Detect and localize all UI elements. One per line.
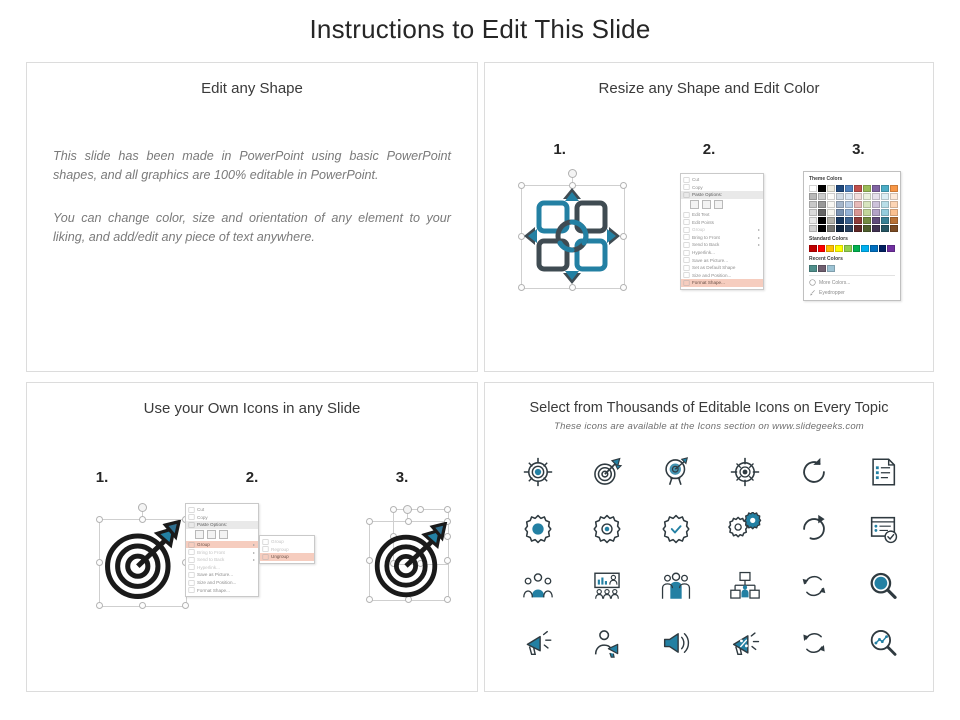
color-swatch[interactable]: [836, 193, 844, 200]
color-swatch[interactable]: [863, 185, 871, 192]
bring-front-icon: [188, 549, 195, 555]
gear-check-icon: [659, 512, 693, 546]
chevron-right-icon: ▸: [758, 235, 760, 240]
panel-title-edit-shape: Edit any Shape: [27, 80, 477, 97]
color-swatch[interactable]: [861, 245, 869, 252]
color-swatch[interactable]: [872, 209, 880, 216]
menu-item-hyperlink[interactable]: Hyperlink...: [681, 249, 763, 257]
paste-merge-icon: [207, 530, 216, 539]
color-swatch[interactable]: [826, 245, 834, 252]
panel-title-own-icons: Use your Own Icons in any Slide: [27, 400, 477, 417]
color-swatch[interactable]: [836, 225, 844, 232]
icon-cell[interactable]: [848, 443, 917, 500]
recycle-arrows-icon: [797, 626, 831, 660]
size-position-icon: [683, 272, 690, 278]
color-swatch[interactable]: [809, 193, 817, 200]
color-swatch[interactable]: [854, 209, 862, 216]
step-number-1: 1.: [27, 469, 177, 486]
color-swatch[interactable]: [845, 225, 853, 232]
color-swatch[interactable]: [836, 185, 844, 192]
menu-item-set-as-default-shape[interactable]: Set as Default Shape: [681, 264, 763, 272]
color-swatch[interactable]: [890, 185, 898, 192]
icon-cell[interactable]: [572, 557, 641, 614]
color-swatch[interactable]: [872, 225, 880, 232]
menu-item-edit-text[interactable]: Edit Text: [681, 211, 763, 219]
bring-front-icon: [683, 234, 690, 240]
menu-item-label: Format Shape...: [197, 588, 255, 593]
color-swatch[interactable]: [818, 265, 826, 272]
color-swatch[interactable]: [887, 245, 895, 252]
person-megaphone-icon: [590, 626, 624, 660]
menu-item-copy[interactable]: Copy: [681, 184, 763, 192]
color-swatch[interactable]: [881, 217, 889, 224]
color-swatch[interactable]: [890, 217, 898, 224]
chevron-right-icon: ▸: [758, 242, 760, 247]
menu-item-label: Send to Back: [692, 242, 758, 247]
edit-shape-paragraph-2: You can change color, size and orientati…: [53, 209, 451, 247]
recent-colors-heading: Recent Colors: [809, 256, 895, 262]
menu-item-copy[interactable]: Copy: [186, 514, 258, 522]
theme-color-column[interactable]: [809, 185, 817, 232]
theme-color-column[interactable]: [854, 185, 862, 232]
color-swatch[interactable]: [863, 201, 871, 208]
color-picker-wrapper[interactable]: Theme Colors Standard Colors Recent Colo…: [803, 171, 901, 301]
color-swatch[interactable]: [872, 185, 880, 192]
color-swatch[interactable]: [863, 217, 871, 224]
menu-item-label: Bring to Front: [692, 235, 758, 240]
menu-item-label: Cut: [197, 507, 255, 512]
rotate-handle[interactable]: [568, 169, 577, 178]
menu-item-label: Save as Picture...: [692, 258, 760, 263]
menu-item-paste-options[interactable]: Paste Options:: [186, 521, 258, 529]
menu-item-label: Group: [271, 539, 311, 544]
chevron-right-icon: ▸: [253, 557, 255, 562]
color-swatch[interactable]: [818, 225, 826, 232]
menu-item-edit-points[interactable]: Edit Points: [681, 218, 763, 226]
dartboard-stand-icon: [659, 455, 693, 489]
paste-icon: [683, 192, 690, 198]
color-swatch[interactable]: [827, 193, 835, 200]
color-swatch[interactable]: [827, 265, 835, 272]
menu-item-label: Hyperlink...: [197, 565, 255, 570]
regroup-icon: [262, 546, 269, 552]
format-shape-icon: [683, 280, 690, 286]
rotate-handle[interactable]: [138, 503, 147, 512]
color-wheel-icon: [809, 279, 816, 286]
menu-item-format-shape[interactable]: Format Shape...: [681, 279, 763, 287]
format-shape-icon: [188, 587, 195, 593]
color-swatch[interactable]: [872, 193, 880, 200]
standard-colors-heading: Standard Colors: [809, 236, 895, 242]
color-swatch[interactable]: [809, 201, 817, 208]
circular-arrow-icon: [797, 512, 831, 546]
icon-cell[interactable]: [848, 614, 917, 671]
icon-cell[interactable]: [710, 557, 779, 614]
theme-color-column[interactable]: [827, 185, 835, 232]
team-three-icon: [659, 569, 693, 603]
panel-title-editable-icons: Select from Thousands of Editable Icons …: [485, 400, 933, 416]
edit-points-icon: [683, 219, 690, 225]
color-swatch[interactable]: [881, 193, 889, 200]
gear-filled-icon: [521, 512, 555, 546]
icon-cell[interactable]: [779, 614, 848, 671]
crosshair-dot-icon: [728, 455, 762, 489]
menu-item-label: Edit Text: [692, 212, 760, 217]
paste-icon: [188, 522, 195, 528]
color-swatch[interactable]: [827, 209, 835, 216]
color-swatch[interactable]: [818, 201, 826, 208]
color-swatch[interactable]: [863, 193, 871, 200]
paste-keep-formatting-icon: [195, 530, 204, 539]
quadrant-shape-selection[interactable]: [507, 173, 637, 313]
page-title: Instructions to Edit This Slide: [0, 14, 960, 45]
theme-color-column[interactable]: [890, 185, 898, 232]
menu-item-format-shape[interactable]: Format Shape...: [186, 586, 258, 594]
menu-item-size-and-position[interactable]: Size and Position...: [681, 272, 763, 280]
size-position-icon: [188, 580, 195, 586]
default-shape-icon: [683, 265, 690, 271]
color-swatch[interactable]: [827, 201, 835, 208]
theme-colors-grid[interactable]: [809, 185, 895, 232]
color-swatch[interactable]: [870, 245, 878, 252]
step-number-2: 2.: [634, 141, 783, 158]
color-swatch[interactable]: [890, 209, 898, 216]
color-swatch[interactable]: [827, 185, 835, 192]
refresh-clockwise-icon: [797, 455, 831, 489]
menu-item-label: Send to Back: [197, 557, 253, 562]
checklist-approved-icon: [866, 512, 900, 546]
group-context-menu[interactable]: CutCopyPaste Options:Group▸Bring to Fron…: [185, 503, 259, 597]
paste-option-icons[interactable]: [186, 529, 258, 541]
gear-outline-icon: [590, 512, 624, 546]
speaker-megaphone-icon: [659, 626, 693, 660]
theme-color-column[interactable]: [818, 185, 826, 232]
menu-item-regroup[interactable]: Regroup: [260, 546, 314, 554]
hyperlink-icon: [683, 250, 690, 256]
color-swatch[interactable]: [872, 217, 880, 224]
icon-cell[interactable]: [572, 443, 641, 500]
menu-item-label: Paste Options:: [197, 522, 255, 527]
menu-item-label: Ungroup: [271, 554, 311, 559]
color-swatch[interactable]: [881, 201, 889, 208]
magnifier-chart-icon: [866, 626, 900, 660]
more-colors-label: More Colors...: [819, 280, 850, 286]
menu-item-ungroup[interactable]: Ungroup: [260, 553, 314, 561]
step-number-1: 1.: [485, 141, 634, 158]
icon-cell[interactable]: [503, 443, 572, 500]
color-swatch[interactable]: [863, 225, 871, 232]
recent-colors-row[interactable]: [809, 265, 895, 272]
slide-canvas: Instructions to Edit This Slide Edit any…: [0, 0, 960, 720]
step-number-3: 3.: [327, 469, 477, 486]
menu-item-save-as-picture[interactable]: Save as Picture...: [681, 256, 763, 264]
send-back-icon: [683, 242, 690, 248]
icon-cell[interactable]: [710, 500, 779, 557]
eyedropper-label: Eyedropper: [819, 290, 845, 296]
color-swatch[interactable]: [836, 217, 844, 224]
paste-picture-icon: [714, 200, 723, 209]
color-swatch[interactable]: [827, 225, 835, 232]
menu-item-label: Save as Picture...: [197, 572, 255, 577]
target-arrow-icon: [100, 520, 184, 604]
color-swatch[interactable]: [872, 201, 880, 208]
color-swatch[interactable]: [818, 217, 826, 224]
color-swatch[interactable]: [818, 193, 826, 200]
standard-colors-row[interactable]: [809, 245, 895, 252]
panel-resize-shape: Resize any Shape and Edit Color 1. 2. 3.: [484, 62, 934, 372]
theme-color-column[interactable]: [845, 185, 853, 232]
scissors-icon: [188, 507, 195, 513]
menu-item-paste-options[interactable]: Paste Options:: [681, 191, 763, 199]
copy-icon: [188, 514, 195, 520]
shape-context-menu[interactable]: CutCopyPaste Options:Edit TextEdit Point…: [680, 173, 764, 290]
group-context-menu-wrapper[interactable]: CutCopyPaste Options:Group▸Bring to Fron…: [185, 503, 259, 597]
color-swatch[interactable]: [836, 201, 844, 208]
icon-cell[interactable]: [641, 443, 710, 500]
editable-icons-subtitle: These icons are available at the Icons s…: [485, 421, 933, 432]
menu-item-send-to-back[interactable]: Send to Back▸: [186, 556, 258, 564]
color-swatch[interactable]: [809, 225, 817, 232]
color-swatch[interactable]: [879, 245, 887, 252]
color-swatch[interactable]: [854, 193, 862, 200]
icon-cell[interactable]: [779, 443, 848, 500]
menu-item-label: Size and Position...: [692, 273, 760, 278]
step-number-3: 3.: [784, 141, 933, 158]
panel-edit-any-shape: Edit any Shape This slide has been made …: [26, 62, 478, 372]
target-icon-ungrouped-selection[interactable]: [349, 501, 469, 623]
menu-item-cut[interactable]: Cut: [186, 506, 258, 514]
color-swatch[interactable]: [845, 193, 853, 200]
icon-cell[interactable]: [779, 557, 848, 614]
menu-item-cut[interactable]: Cut: [681, 176, 763, 184]
menu-item-label: Regroup: [271, 547, 311, 552]
eyedropper-icon: [809, 289, 816, 296]
color-swatch[interactable]: [854, 217, 862, 224]
icon-cell[interactable]: [779, 500, 848, 557]
menu-item-label: Format Shape...: [692, 280, 760, 285]
menu-item-hyperlink[interactable]: Hyperlink...: [186, 564, 258, 572]
color-swatch[interactable]: [835, 245, 843, 252]
theme-color-column[interactable]: [881, 185, 889, 232]
save-picture-icon: [683, 257, 690, 263]
icon-cell[interactable]: [503, 557, 572, 614]
color-swatch[interactable]: [809, 185, 817, 192]
icon-cell[interactable]: [641, 500, 710, 557]
menu-item-group[interactable]: Group: [260, 538, 314, 546]
icon-library-grid: [503, 443, 917, 671]
paste-picture-icon: [219, 530, 228, 539]
color-swatch[interactable]: [818, 209, 826, 216]
people-group-icon: [521, 569, 555, 603]
color-swatch[interactable]: [818, 245, 826, 252]
menu-item-label: Size and Position...: [197, 580, 255, 585]
edit-shape-paragraph-1: This slide has been made in PowerPoint u…: [53, 147, 451, 185]
theme-color-column[interactable]: [863, 185, 871, 232]
menu-item-bring-to-front[interactable]: Bring to Front▸: [681, 234, 763, 242]
color-swatch[interactable]: [827, 217, 835, 224]
color-swatch[interactable]: [881, 225, 889, 232]
more-colors-option[interactable]: More Colors...: [809, 279, 895, 286]
menu-item-group[interactable]: Group▸: [186, 541, 258, 549]
target-icon-selection[interactable]: [71, 503, 191, 623]
paste-keep-formatting-icon: [690, 200, 699, 209]
icon-cell[interactable]: [848, 500, 917, 557]
color-swatch[interactable]: [809, 245, 817, 252]
menu-item-label: Set as Default Shape: [692, 265, 760, 270]
resize-step-numbers: 1. 2. 3.: [485, 141, 933, 158]
color-swatch[interactable]: [836, 209, 844, 216]
sync-arrows-icon: [797, 569, 831, 603]
color-swatch[interactable]: [845, 217, 853, 224]
chevron-right-icon: ▸: [253, 550, 255, 555]
color-swatch[interactable]: [853, 245, 861, 252]
color-swatch[interactable]: [890, 201, 898, 208]
icon-cell[interactable]: [503, 500, 572, 557]
theme-color-column[interactable]: [872, 185, 880, 232]
color-picker-panel[interactable]: Theme Colors Standard Colors Recent Colo…: [803, 171, 901, 301]
color-swatch[interactable]: [854, 185, 862, 192]
color-swatch[interactable]: [890, 225, 898, 232]
edit-text-icon: [683, 212, 690, 218]
ungroup-icon: [262, 554, 269, 560]
color-swatch[interactable]: [881, 209, 889, 216]
color-swatch[interactable]: [809, 217, 817, 224]
menu-item-label: Cut: [692, 177, 760, 182]
step-number-2: 2.: [177, 469, 327, 486]
panel-title-resize-shape: Resize any Shape and Edit Color: [485, 80, 933, 97]
megaphone-icon: [521, 626, 555, 660]
four-quadrant-icon: [522, 186, 622, 286]
group-icon: [683, 227, 690, 233]
color-swatch[interactable]: [854, 225, 862, 232]
crosshair-target-icon: [521, 455, 555, 489]
target-arrow-ungrouped-icon: [370, 522, 450, 602]
color-swatch[interactable]: [854, 201, 862, 208]
target-arrow-icon: [590, 455, 624, 489]
eyedropper-option[interactable]: Eyedropper: [809, 289, 895, 296]
copy-icon: [683, 184, 690, 190]
color-swatch[interactable]: [890, 193, 898, 200]
group-submenu[interactable]: GroupRegroupUngroup: [259, 535, 315, 564]
icon-cell[interactable]: [641, 557, 710, 614]
icon-cell[interactable]: [572, 500, 641, 557]
icon-cell[interactable]: [641, 614, 710, 671]
double-gear-icon: [728, 512, 762, 546]
menu-item-label: Bring to Front: [197, 550, 253, 555]
shape-context-menu-wrapper[interactable]: CutCopyPaste Options:Edit TextEdit Point…: [680, 173, 764, 290]
panel-own-icons: Use your Own Icons in any Slide 1. 2. 3.: [26, 382, 478, 692]
menu-item-label: Group: [197, 542, 253, 547]
percent-megaphone-icon: [728, 626, 762, 660]
icon-cell[interactable]: [572, 614, 641, 671]
menu-item-label: Group: [692, 227, 758, 232]
color-swatch[interactable]: [845, 209, 853, 216]
menu-item-size-and-position[interactable]: Size and Position...: [186, 579, 258, 587]
color-swatch[interactable]: [845, 185, 853, 192]
color-swatch[interactable]: [881, 185, 889, 192]
menu-item-label: Copy: [197, 515, 255, 520]
menu-item-label: Edit Points: [692, 220, 760, 225]
panel-editable-icons: Select from Thousands of Editable Icons …: [484, 382, 934, 692]
color-swatch[interactable]: [845, 201, 853, 208]
icon-cell[interactable]: [848, 557, 917, 614]
chevron-right-icon: ▸: [758, 227, 760, 232]
paste-option-icons[interactable]: [681, 199, 763, 211]
org-chart-icon: [728, 569, 762, 603]
color-swatch[interactable]: [818, 185, 826, 192]
chevron-right-icon: ▸: [253, 542, 255, 547]
menu-item-send-to-back[interactable]: Send to Back▸: [681, 241, 763, 249]
group-icon: [188, 542, 195, 548]
color-swatch[interactable]: [863, 209, 871, 216]
theme-colors-heading: Theme Colors: [809, 176, 895, 182]
rotate-handle[interactable]: [403, 505, 412, 514]
presentation-audience-icon: [590, 569, 624, 603]
magnifier-icon: [866, 569, 900, 603]
menu-item-save-as-picture[interactable]: Save as Picture...: [186, 571, 258, 579]
hyperlink-icon: [188, 564, 195, 570]
icon-cell[interactable]: [710, 614, 779, 671]
group-icon: [262, 539, 269, 545]
send-back-icon: [188, 557, 195, 563]
menu-item-label: Copy: [692, 185, 760, 190]
menu-item-bring-to-front[interactable]: Bring to Front▸: [186, 548, 258, 556]
color-swatch[interactable]: [844, 245, 852, 252]
save-picture-icon: [188, 572, 195, 578]
icon-cell[interactable]: [710, 443, 779, 500]
own-icons-step-numbers: 1. 2. 3.: [27, 469, 477, 486]
menu-item-label: Paste Options:: [692, 192, 760, 197]
color-swatch[interactable]: [809, 209, 817, 216]
menu-item-group[interactable]: Group▸: [681, 226, 763, 234]
menu-item-label: Hyperlink...: [692, 250, 760, 255]
checklist-document-icon: [866, 455, 900, 489]
theme-color-column[interactable]: [836, 185, 844, 232]
icon-cell[interactable]: [503, 614, 572, 671]
color-swatch[interactable]: [809, 265, 817, 272]
paste-merge-icon: [702, 200, 711, 209]
scissors-icon: [683, 177, 690, 183]
